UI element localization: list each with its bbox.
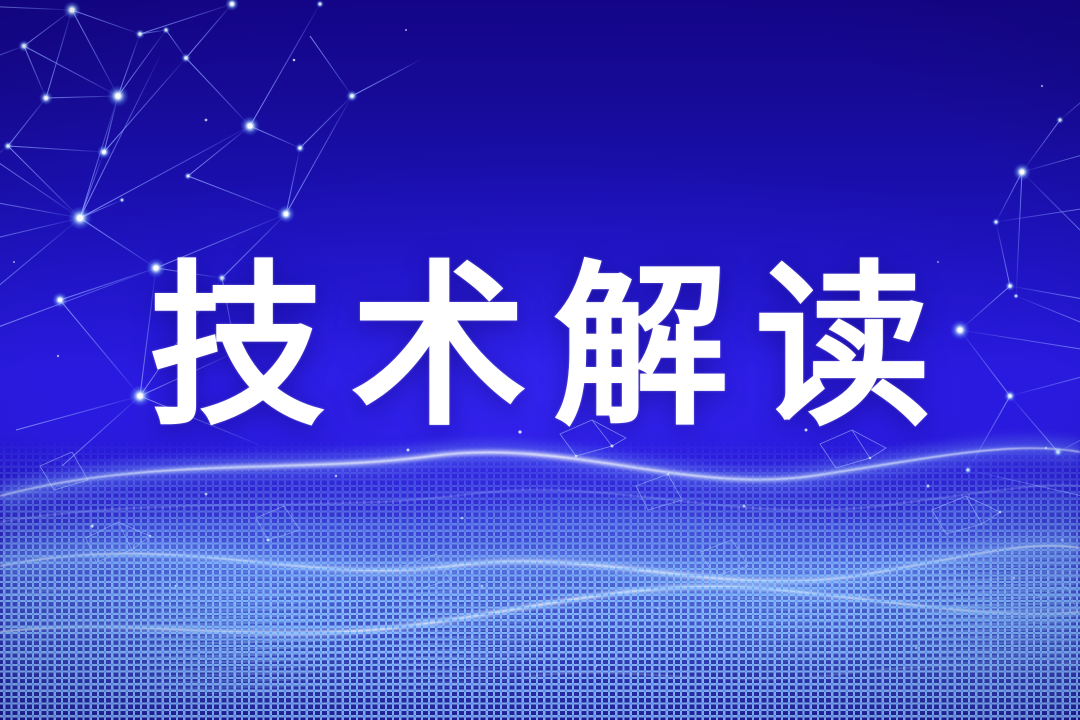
particle-wave-icon	[0, 390, 1080, 720]
poster-canvas: 技术解读	[0, 0, 1080, 720]
wave-dot-mesh-front	[0, 440, 1080, 720]
